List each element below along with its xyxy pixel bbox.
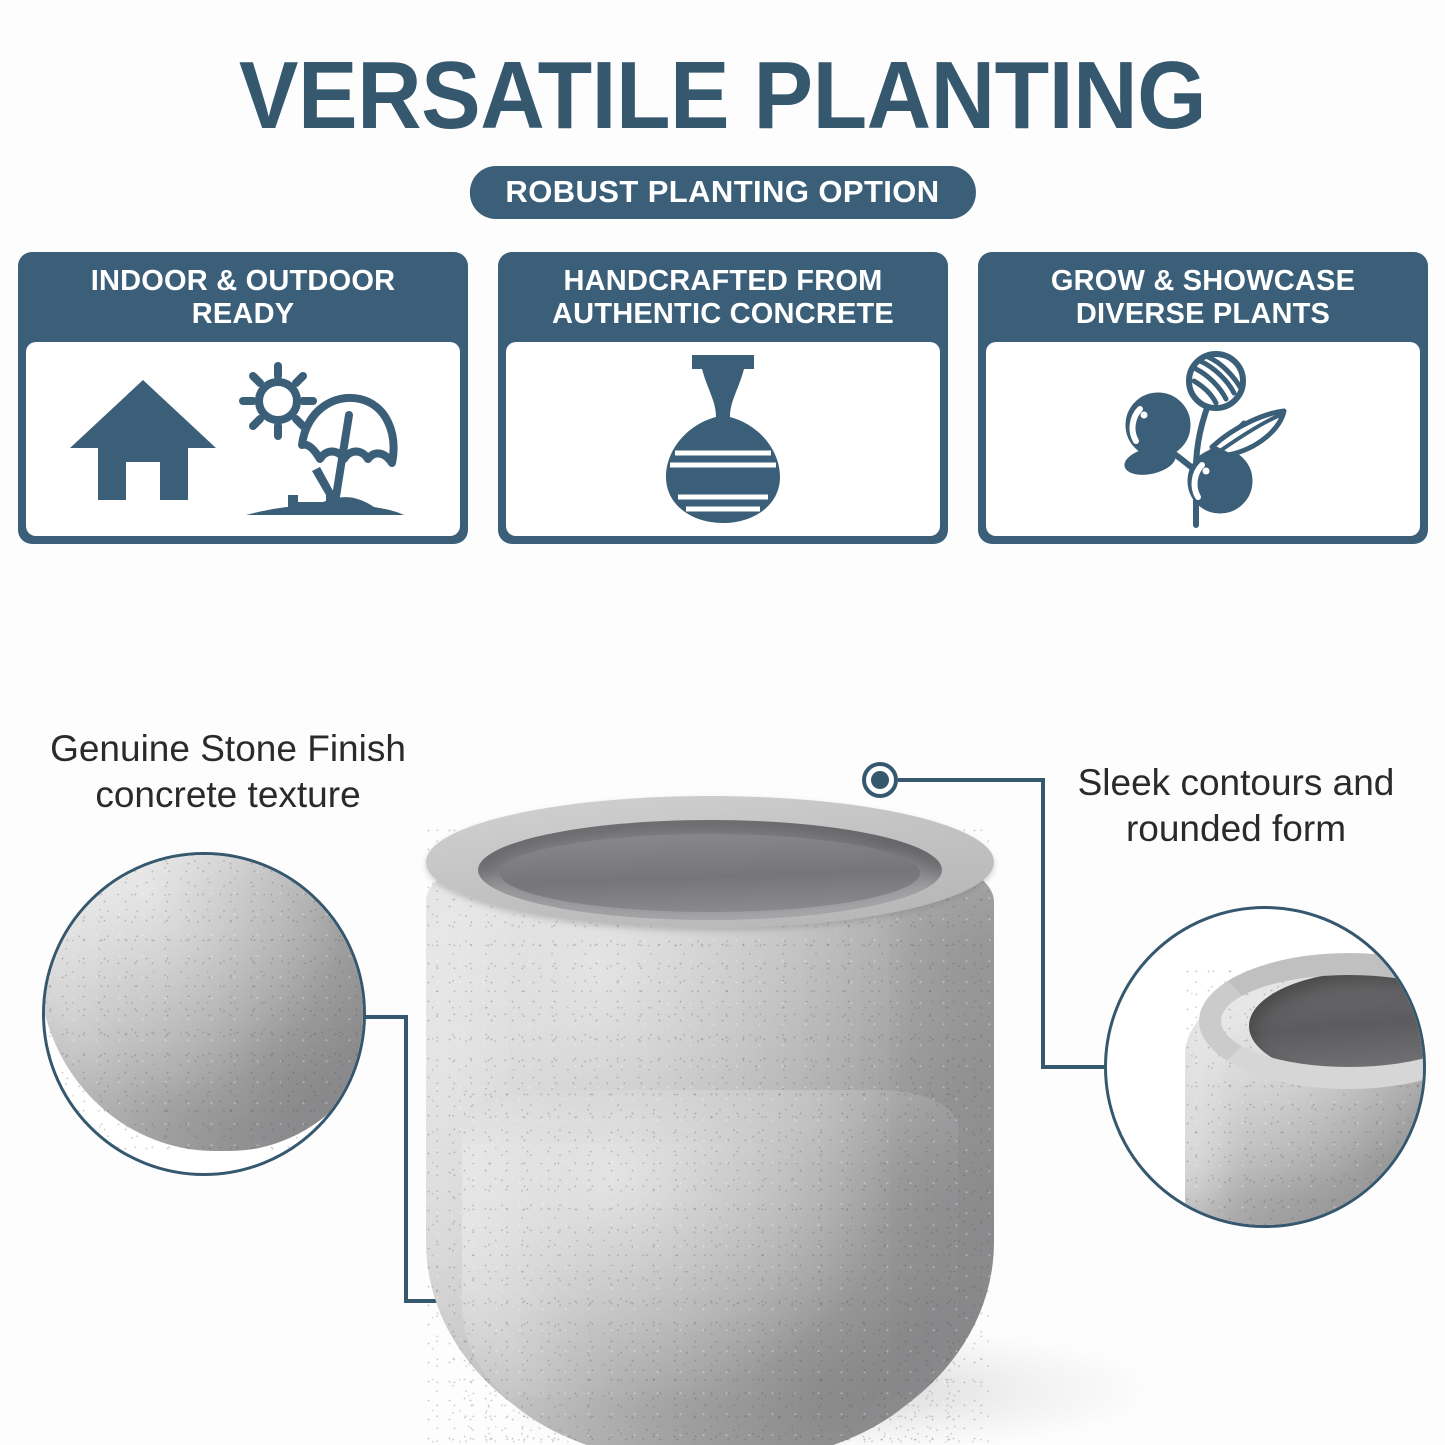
- feature-card-row: INDOOR & OUTDOOR READY: [18, 252, 1428, 544]
- house-icon: [68, 374, 218, 504]
- detail-circle-rim-contour: [1104, 906, 1426, 1228]
- page-title: VERSATILE PLANTING: [51, 46, 1395, 146]
- planter-interior: [500, 834, 920, 912]
- feature-card-handcrafted: HANDCRAFTED FROM AUTHENTIC CONCRETE: [498, 252, 948, 544]
- callout-label-texture: Genuine Stone Finish concrete texture: [28, 726, 428, 818]
- product-planter: [404, 790, 1016, 1445]
- feature-card-title: HANDCRAFTED FROM AUTHENTIC CONCRETE: [498, 252, 948, 342]
- feature-card-icons: [986, 342, 1420, 536]
- infographic-canvas: VERSATILE PLANTING ROBUST PLANTING OPTIO…: [0, 0, 1445, 1445]
- vase-icon: [648, 349, 798, 529]
- subtitle-badge: ROBUST PLANTING OPTION: [469, 166, 975, 219]
- beach-umbrella-icon: [228, 359, 418, 519]
- callout-label-contour: Sleek contours and rounded form: [1046, 760, 1426, 852]
- feature-card-icons: [26, 342, 460, 536]
- detail-circle-concrete-texture: [42, 852, 366, 1176]
- berry-sprig-icon: [1116, 349, 1291, 529]
- feature-card-title: INDOOR & OUTDOOR READY: [18, 252, 468, 342]
- rim-contour-art: [1107, 909, 1426, 1228]
- feature-card-title: GROW & SHOWCASE DIVERSE PLANTS: [978, 252, 1428, 342]
- feature-card-grow-showcase: GROW & SHOWCASE DIVERSE PLANTS: [978, 252, 1428, 544]
- feature-card-icons: [506, 342, 940, 536]
- concrete-texture-art: [42, 852, 366, 1151]
- feature-card-indoor-outdoor: INDOOR & OUTDOOR READY: [18, 252, 468, 544]
